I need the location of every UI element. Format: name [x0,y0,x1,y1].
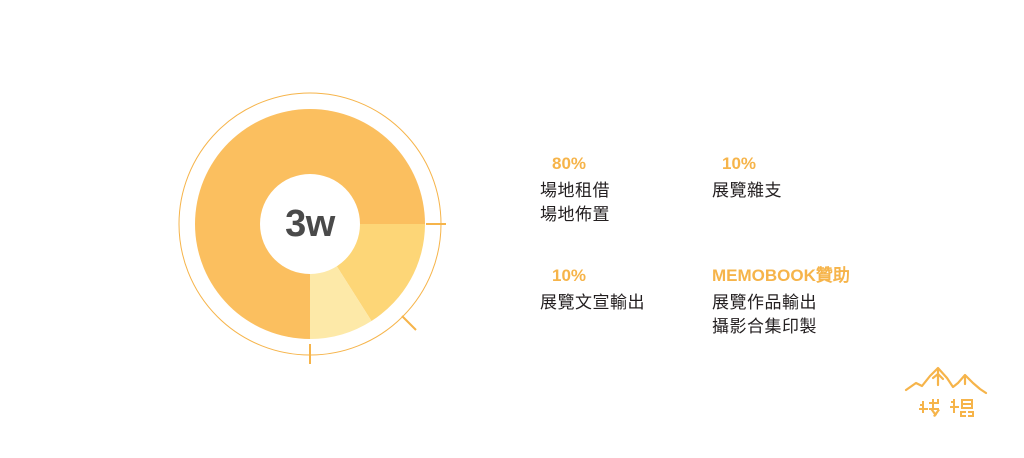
donut-center-label: 3w [260,174,360,274]
legend-item-venue: 80% 場地租借 場地佈置 [540,153,712,227]
legend-row: 10% 展覽文宣輸出 MEMOBOOK贊助 展覽作品輸出 攝影合集印製 [540,265,940,339]
legend-line: 場地佈置 [540,203,712,227]
donut-chart: 3w [175,89,445,359]
brand-logo [903,363,989,421]
legend-item-memobook: MEMOBOOK贊助 展覽作品輸出 攝影合集印製 [712,265,884,339]
legend-row: 80% 場地租借 場地佈置 10% 展覽雜支 [540,153,940,227]
legend-percent: MEMOBOOK贊助 [712,265,884,288]
legend-percent-value: 10% [722,154,756,173]
legend-item-promo: 10% 展覽文宣輸出 [540,265,712,339]
legend-percent: 10% [712,153,884,176]
legend-percent-value: MEMOBOOK [712,266,816,285]
legend-line: 展覽作品輸出 [712,291,884,315]
mountain-icon [903,363,989,421]
legend-percent: 10% [540,265,712,288]
legend-percent-value: 80% [552,154,586,173]
legend-percent: 80% [540,153,712,176]
legend-percent-value: 10% [552,266,586,285]
legend-description: 展覽雜支 [712,179,884,203]
legend-description: 場地租借 場地佈置 [540,179,712,227]
legend-description: 展覽文宣輸出 [540,291,712,315]
legend-line: 攝影合集印製 [712,315,884,339]
legend-line: 場地租借 [540,179,712,203]
legend-percent-suffix: 贊助 [816,266,850,285]
legend: 80% 場地租借 場地佈置 10% 展覽雜支 10% 展覽文宣輸出 [540,153,940,339]
wordmark-bashe [919,399,974,417]
legend-description: 展覽作品輸出 攝影合集印製 [712,291,884,339]
legend-item-misc: 10% 展覽雜支 [712,153,884,227]
tick-lower-right [402,316,416,330]
legend-line: 展覽雜支 [712,179,884,203]
legend-line: 展覽文宣輸出 [540,291,712,315]
